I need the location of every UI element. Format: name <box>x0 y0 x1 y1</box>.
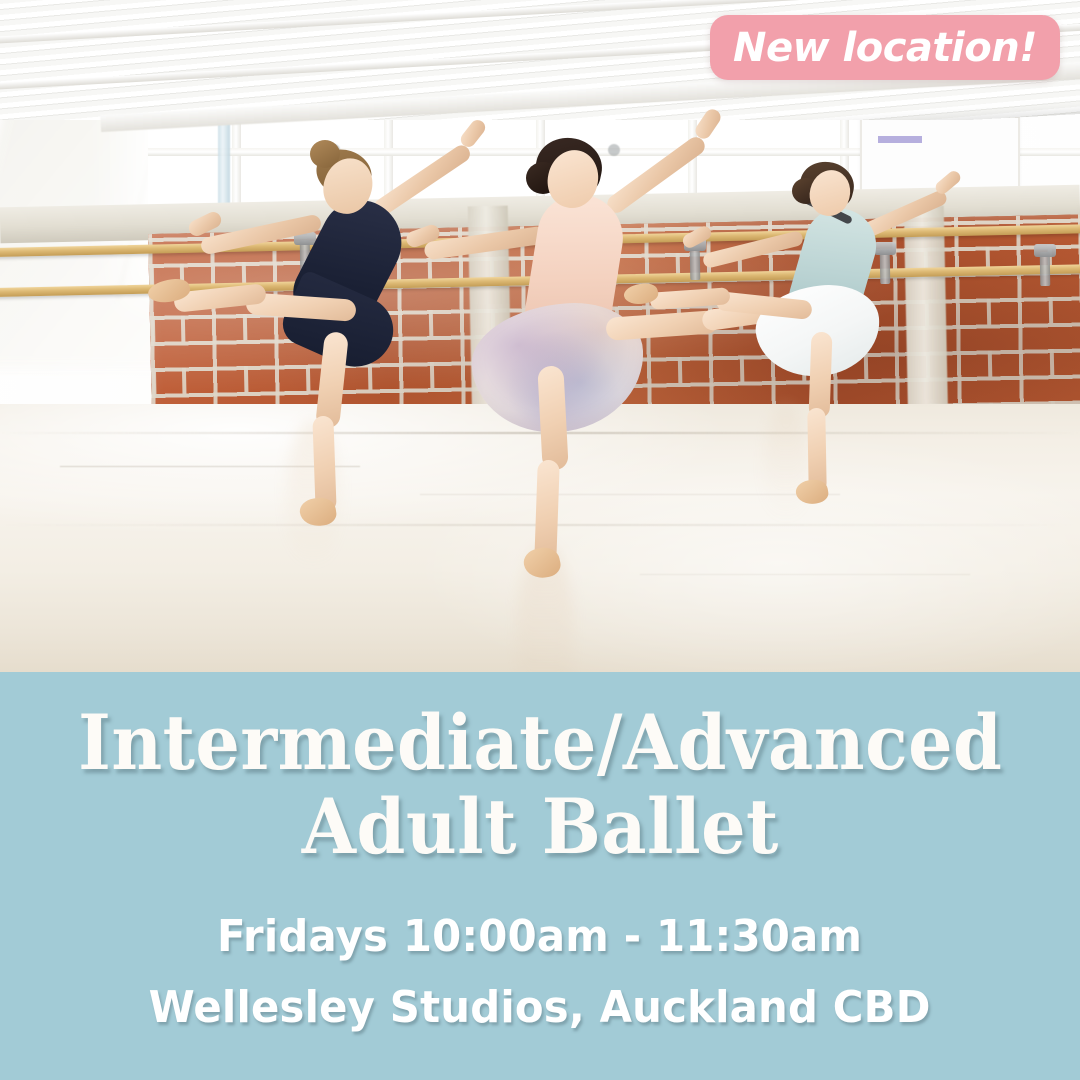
new-location-badge-label: New location! <box>733 28 1037 68</box>
poster-canvas: New location! Intermediate/Advanced Adul… <box>0 0 1080 1080</box>
new-location-badge[interactable]: New location! <box>710 15 1060 80</box>
class-location: Wellesley Studios, Auckland CBD <box>149 982 931 1033</box>
class-schedule: Fridays 10:00am - 11:30am <box>217 911 862 962</box>
title-line-2: Adult Ballet <box>78 788 1002 866</box>
dancer-right <box>706 150 1066 510</box>
info-panel: Intermediate/Advanced Adult Ballet Frida… <box>0 672 1080 1080</box>
studio-photo: New location! <box>0 0 1080 672</box>
page-title: Intermediate/Advanced Adult Ballet <box>78 672 1002 867</box>
title-line-1: Intermediate/Advanced <box>78 704 1002 782</box>
